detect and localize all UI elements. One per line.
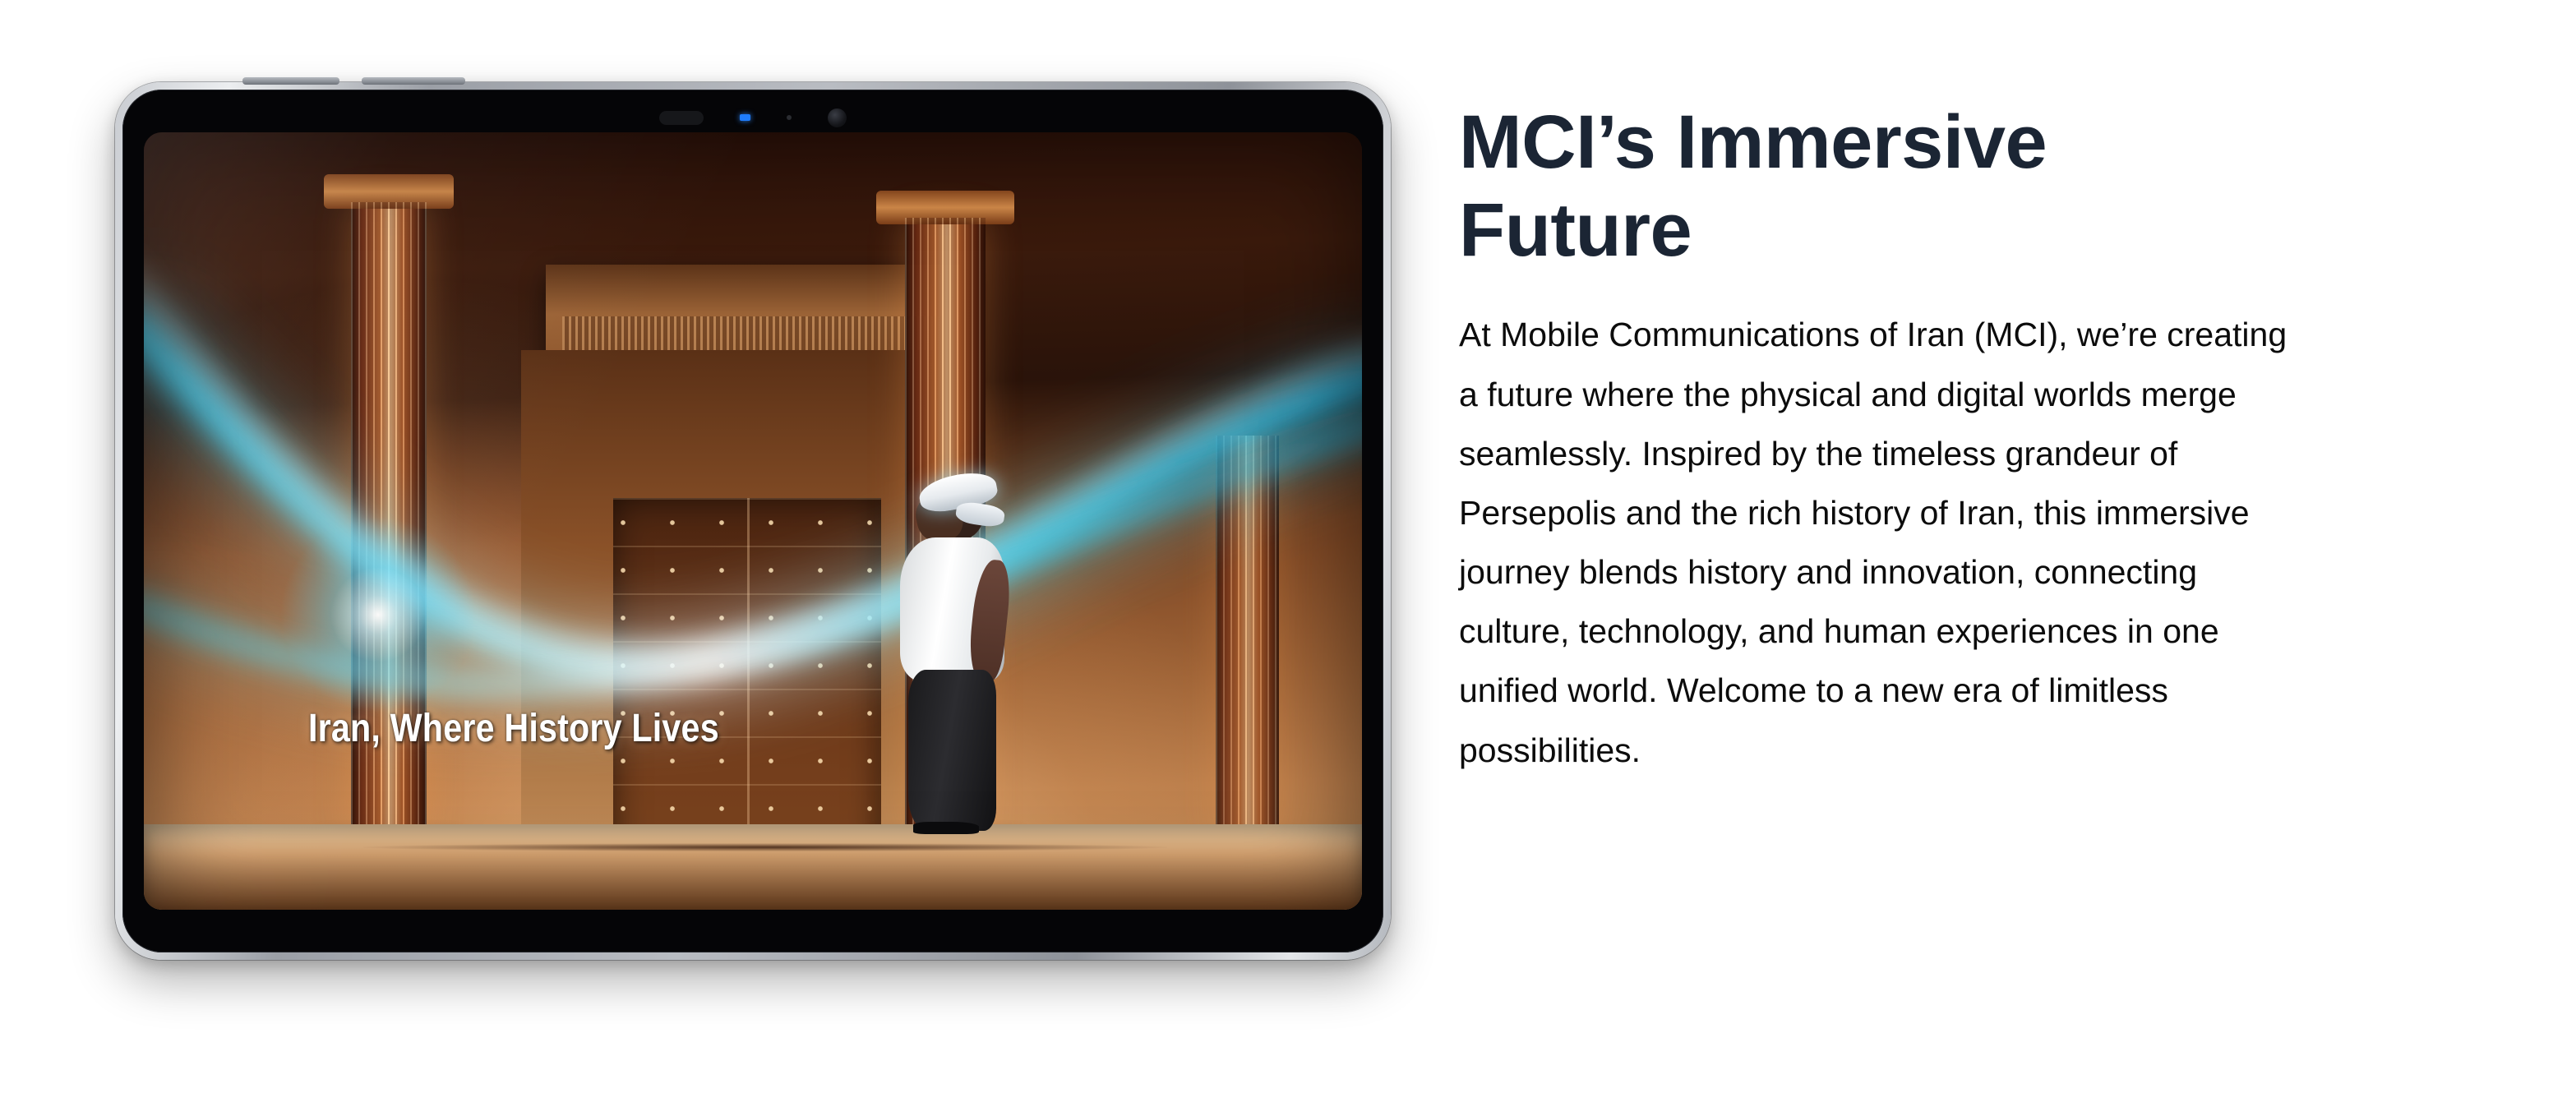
device-bezel: Iran, Where History Lives xyxy=(122,90,1383,952)
volume-up-button[interactable] xyxy=(242,77,339,85)
page-root: Iran, Where History Lives MCI’s Immersiv… xyxy=(0,0,2576,1116)
page-title: MCI’s Immersive Future xyxy=(1459,99,2117,274)
device-frame: Iran, Where History Lives xyxy=(115,82,1391,960)
column-capital xyxy=(324,174,454,209)
person-legs xyxy=(908,670,997,831)
tablet-device[interactable]: Iran, Where History Lives xyxy=(115,82,1391,960)
text-column: MCI’s Immersive Future At Mobile Communi… xyxy=(1459,99,2297,780)
speaker-slot-icon xyxy=(659,111,704,125)
sensor-cluster xyxy=(122,107,1383,128)
volume-down-button[interactable] xyxy=(362,77,465,85)
front-camera-icon xyxy=(828,108,847,127)
floor-shadow xyxy=(363,843,1167,851)
status-led-icon xyxy=(740,114,750,121)
sensor-dot-icon xyxy=(787,115,792,120)
video-caption: Iran, Where History Lives xyxy=(308,706,719,751)
body-paragraph: At Mobile Communications of Iran (MCI), … xyxy=(1459,305,2289,779)
person-with-vr-headset xyxy=(889,481,1023,838)
column-capital xyxy=(876,191,1014,224)
stone-floor xyxy=(144,824,1362,910)
person-shoe xyxy=(913,822,979,835)
video-scene: Iran, Where History Lives xyxy=(144,132,1362,910)
device-screen[interactable]: Iran, Where History Lives xyxy=(144,132,1362,910)
column-far-right xyxy=(1216,436,1279,840)
